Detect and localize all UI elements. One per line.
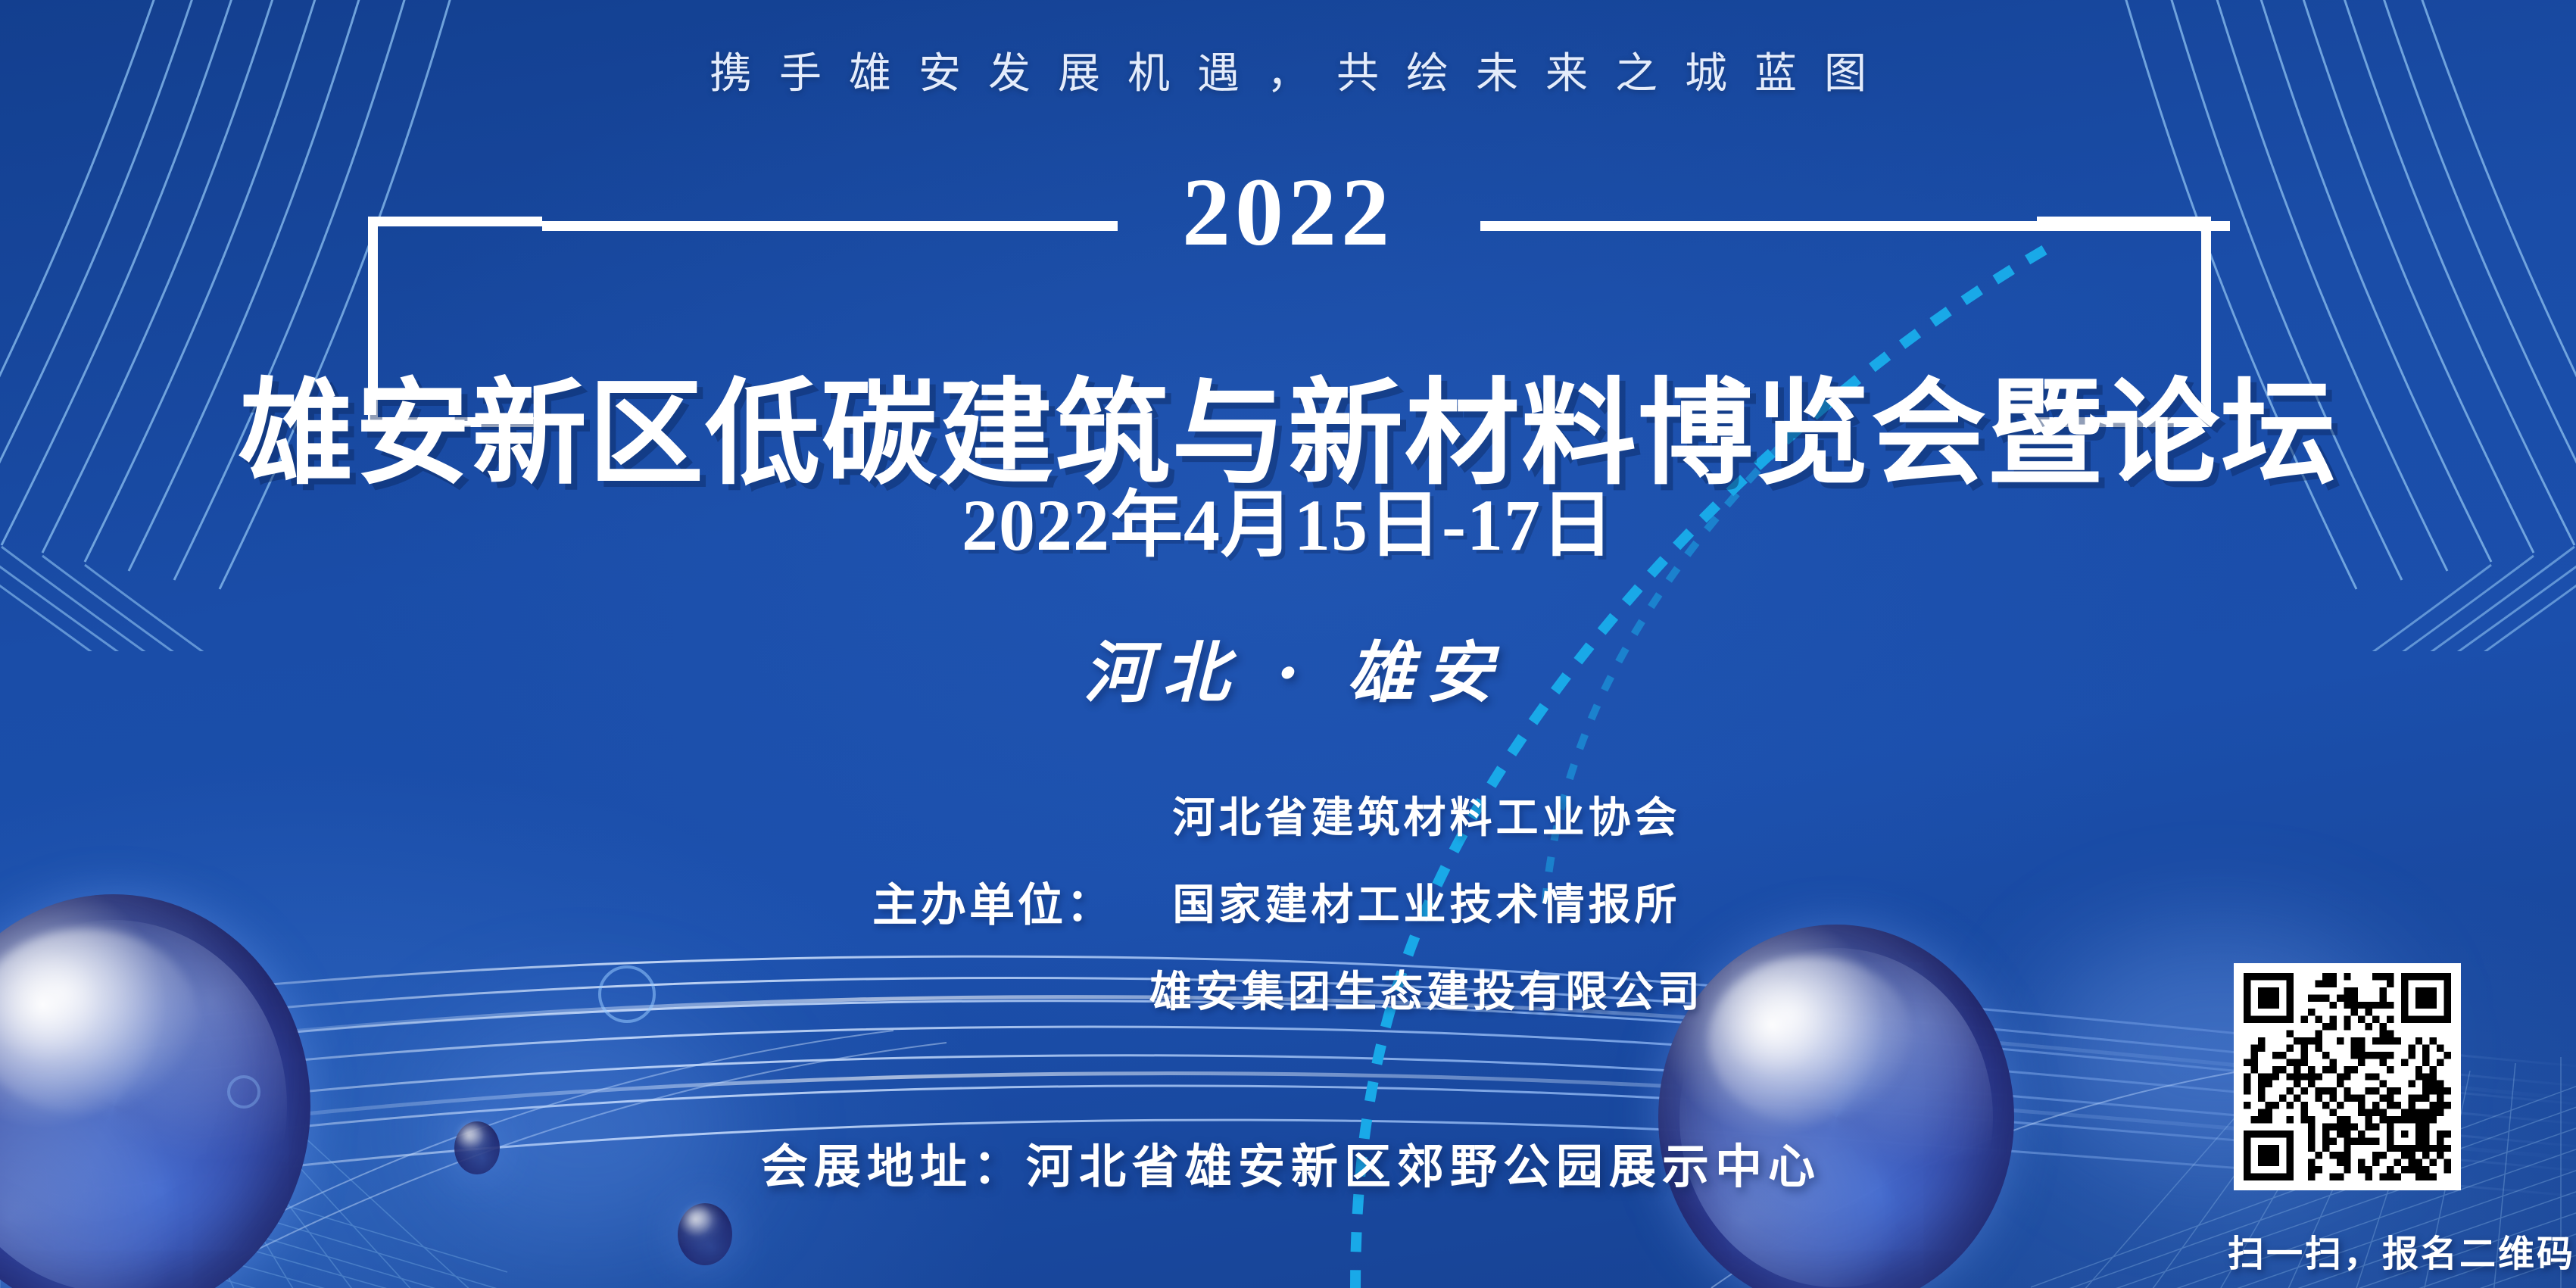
event-city: 河北 · 雄安: [0, 619, 2576, 716]
event-poster: 携手雄安发展机遇，共绘未来之城蓝图 2022 雄安新区低碳建筑与新材料博览会暨论…: [0, 0, 2576, 1288]
event-year: 2022: [0, 164, 2576, 260]
poster-tagline: 携手雄安发展机遇，共绘未来之城蓝图: [0, 39, 2576, 101]
organizers-list: 河北省建筑材料工业协会 国家建材工业技术情报所 雄安集团生态建投有限公司: [1149, 784, 1704, 1019]
ring-decoration-2: [227, 1075, 260, 1109]
qr-code-frame: [2234, 963, 2461, 1190]
organizers-block: 主办单位： 河北省建筑材料工业协会 国家建材工业技术情报所 雄安集团生态建投有限…: [0, 784, 2576, 1019]
organizers-label: 主办单位：: [872, 869, 1115, 934]
event-date: 2022年4月15日-17日: [0, 466, 2576, 571]
registration-qr-block[interactable]: 扫一扫，报名二维码: [2228, 963, 2546, 1277]
event-venue: 会展地址：河北省雄安新区郊野公园展示中心: [0, 1128, 2576, 1196]
qr-code-icon[interactable]: [2244, 973, 2451, 1180]
organizer-item: 河北省建筑材料工业协会: [1149, 784, 1704, 845]
organizer-item: 雄安集团生态建投有限公司: [1149, 958, 1704, 1019]
qr-caption: 扫一扫，报名二维码: [2228, 1224, 2546, 1277]
organizer-item: 国家建材工业技术情报所: [1149, 871, 1704, 932]
sphere-decoration-small-b: [678, 1203, 732, 1265]
